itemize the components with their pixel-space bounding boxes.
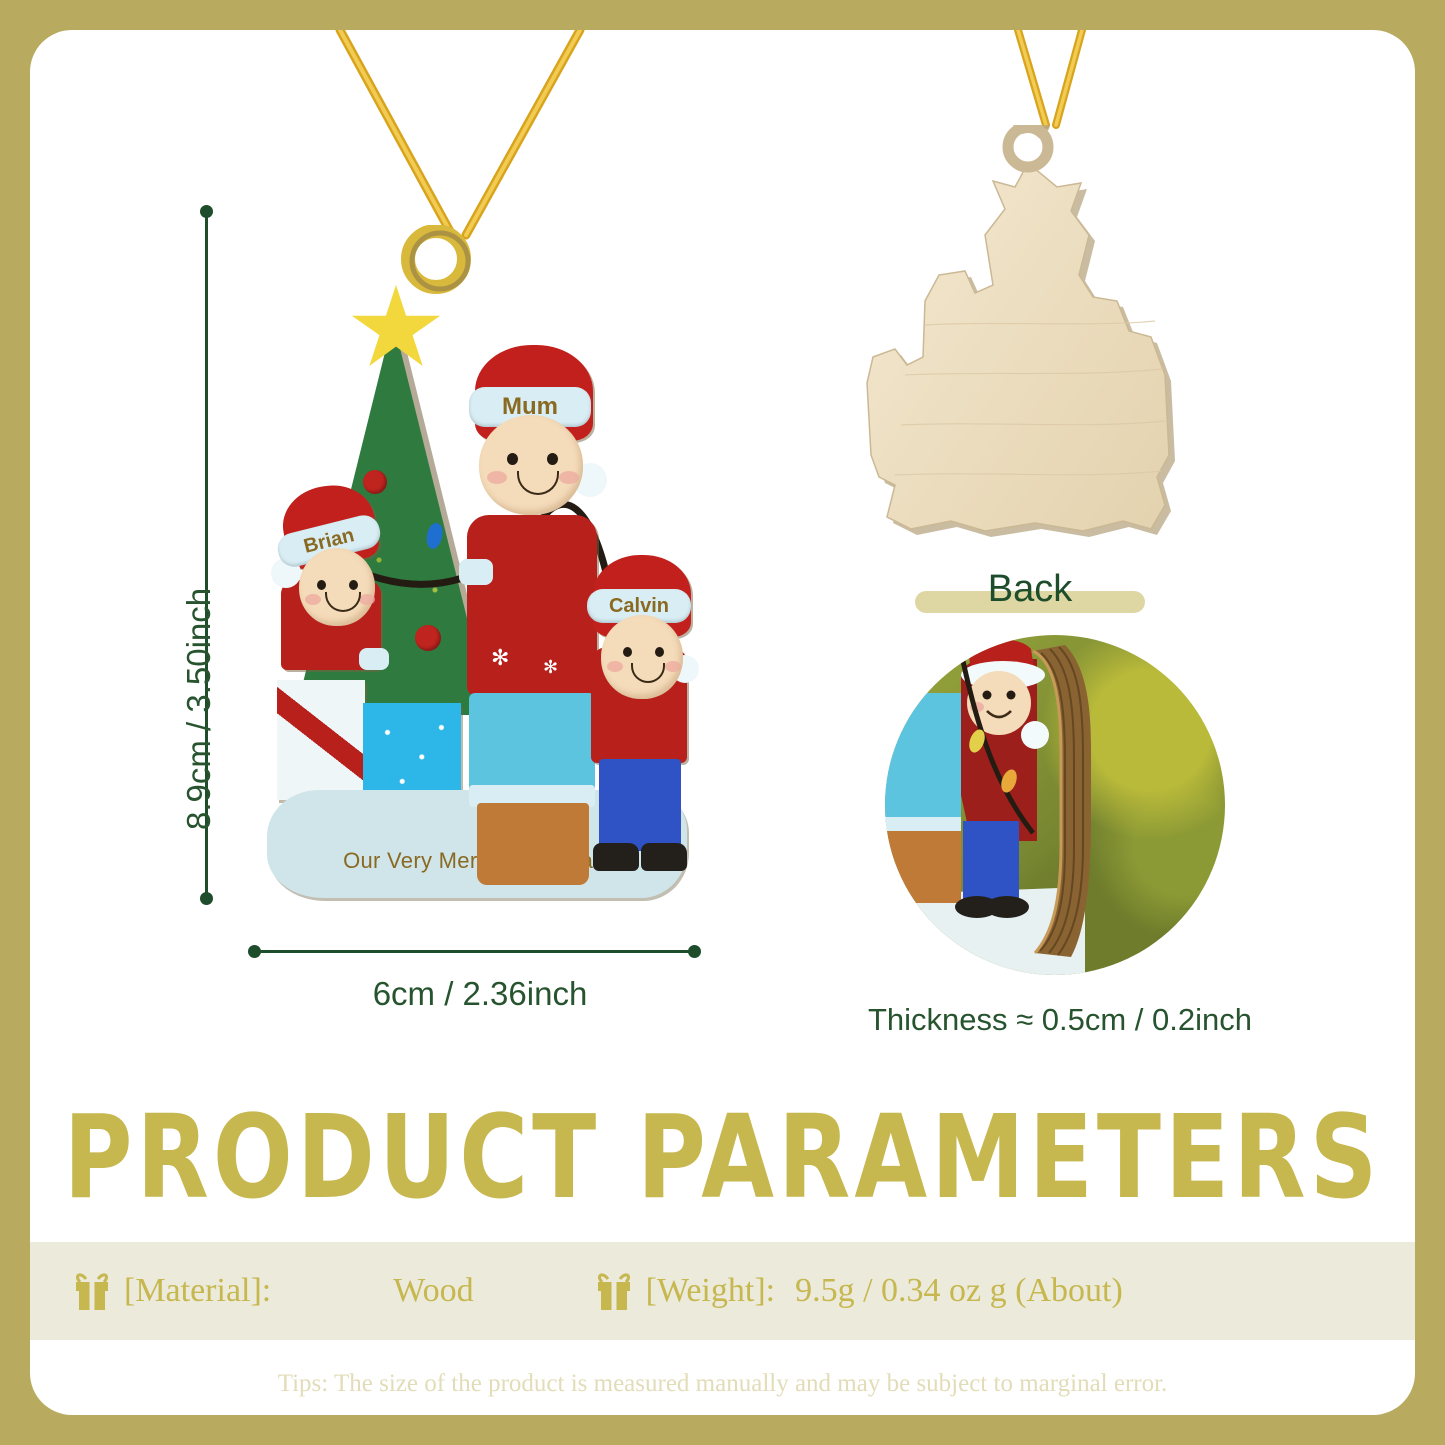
parameter-material: [Material]: Wood [72, 1270, 474, 1312]
thickness-caption: Thickness ≈ 0.5cm / 0.2inch [800, 1002, 1320, 1038]
width-measure-label: 6cm / 2.36inch [245, 975, 715, 1013]
product-photo-area: 8.9cm / 3.50inch 6cm / 2.36inch [30, 30, 1415, 1090]
weight-label: [Weight]: [646, 1272, 775, 1310]
back-label-text: Back [988, 568, 1072, 611]
ornament-front-view: Our Very Merry Christmas! Brian [255, 225, 695, 915]
page-frame: 8.9cm / 3.50inch 6cm / 2.36inch [0, 0, 1445, 1445]
gift-box-blue [363, 703, 461, 801]
height-measure-label: 8.9cm / 3.50inch [180, 588, 218, 830]
gift-icon [594, 1270, 634, 1312]
thickness-closeup-photo [885, 635, 1225, 975]
tips-note: Tips: The size of the product is measure… [30, 1370, 1415, 1398]
material-label: [Material]: [124, 1272, 271, 1310]
hanging-cord-right [960, 30, 1140, 140]
ornament-loop-icon [401, 225, 471, 297]
back-view-caption: Back [865, 558, 1195, 620]
thickness-edge-detail [885, 635, 1225, 975]
gift-icon [72, 1270, 112, 1312]
weight-value: 9.5g / 0.34 oz g (About) [795, 1272, 1123, 1310]
wood-blank-silhouette [865, 125, 1195, 555]
parameter-weight: [Weight]: 9.5g / 0.34 oz g (About) [594, 1270, 1123, 1312]
page-title: PRODUCT PARAMETERS [30, 1092, 1415, 1225]
ornament-back-view [865, 125, 1195, 555]
product-card: 8.9cm / 3.50inch 6cm / 2.36inch [30, 30, 1415, 1415]
gift-box-striped [277, 680, 365, 800]
product-parameters-band: [Material]: Wood [Weight]: 9.5g / 0.34 o… [30, 1242, 1415, 1340]
material-value: Wood [393, 1272, 473, 1310]
